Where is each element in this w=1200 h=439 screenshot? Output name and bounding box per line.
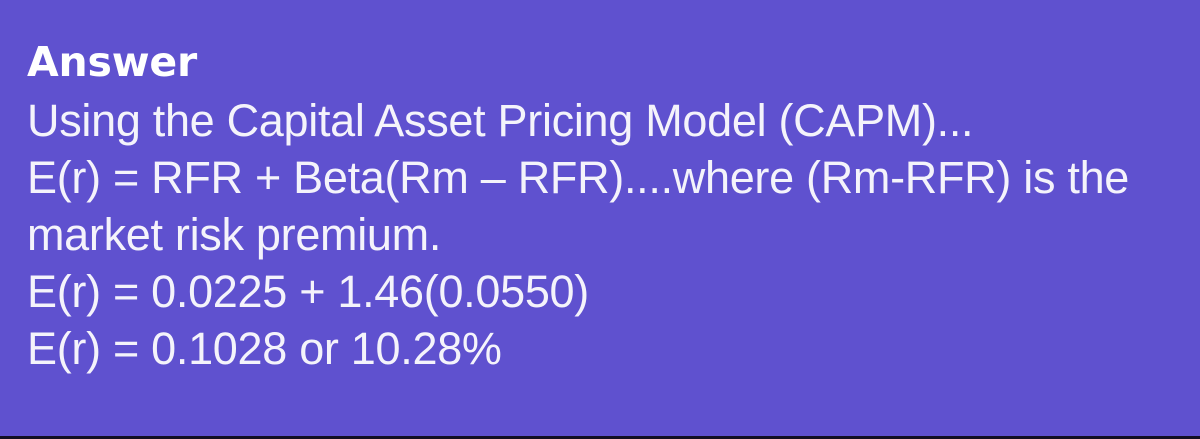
answer-text-line: market risk premium. — [27, 206, 1170, 263]
answer-text-line: E(r) = 0.1028 or 10.28% — [27, 320, 1170, 377]
answer-text-line: E(r) = RFR + Beta(Rm – RFR)....where (Rm… — [27, 149, 1170, 206]
answer-card: Answer Using the Capital Asset Pricing M… — [0, 0, 1200, 439]
answer-text-line: E(r) = 0.0225 + 1.46(0.0550) — [27, 263, 1170, 320]
answer-text-line: Using the Capital Asset Pricing Model (C… — [27, 92, 1170, 149]
answer-heading: Answer — [27, 38, 1170, 86]
answer-body: Using the Capital Asset Pricing Model (C… — [27, 92, 1170, 377]
